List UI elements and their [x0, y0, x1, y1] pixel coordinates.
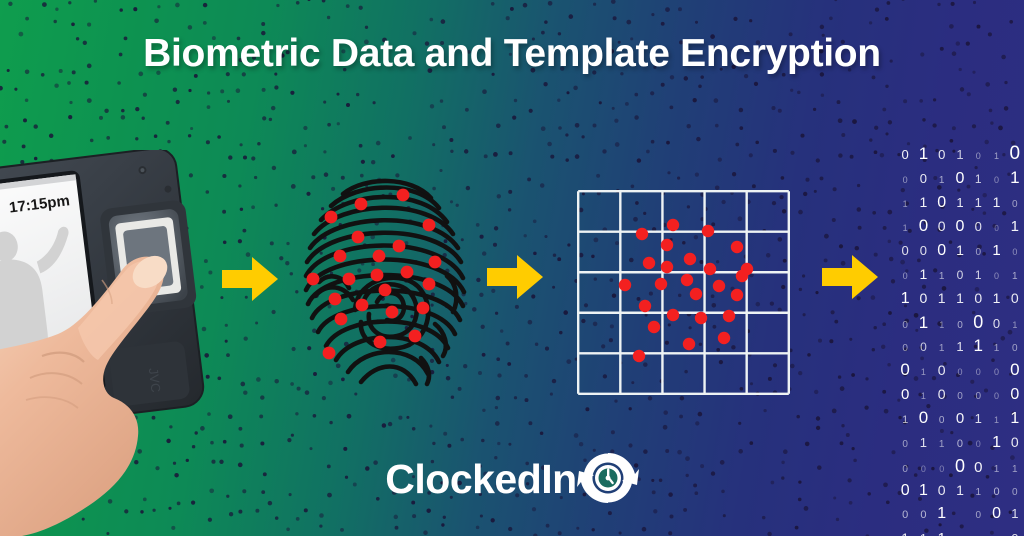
binary-row: 01000000	[896, 382, 1024, 406]
binary-digit: 0	[933, 382, 951, 406]
binary-digit: 0	[933, 143, 951, 167]
binary-digit: 0	[969, 310, 987, 334]
svg-text:JVC: JVC	[146, 367, 164, 393]
binary-digit: 1	[969, 167, 987, 191]
binary-digit: 0	[896, 264, 914, 288]
binary-digit: 0	[896, 239, 914, 263]
brand-logo[interactable]: ClockedIn	[0, 449, 1024, 509]
binary-digit: 1	[987, 144, 1005, 168]
binary-digit: 0	[896, 314, 914, 338]
binary-digit: 1	[914, 311, 932, 335]
binary-row: 0011110	[896, 334, 1024, 358]
binary-digit: 1	[933, 313, 951, 337]
binary-digit: 1	[987, 190, 1005, 214]
binary-digit: 1	[1006, 166, 1024, 190]
arrow-right-icon-1	[222, 255, 278, 303]
binary-digit: 0	[969, 144, 987, 168]
binary-digit: 0	[1006, 193, 1024, 217]
binary-digit: 1	[896, 216, 914, 240]
binary-digit: 0	[914, 239, 932, 263]
binary-digit: 0	[933, 239, 951, 263]
binary-digit: 0	[933, 409, 951, 433]
binary-digit: 0	[951, 263, 969, 287]
binary-digit: 1	[914, 142, 932, 166]
binary-digit: 1	[969, 191, 987, 215]
binary-digit: 0	[969, 360, 987, 384]
binary-digit: 0	[1006, 383, 1024, 407]
binary-row: 11110	[896, 526, 1024, 536]
binary-row: 1011010	[896, 286, 1024, 310]
binary-row: 0001010	[896, 238, 1024, 262]
binary-digit: 1	[914, 527, 932, 536]
binary-digit: 0	[914, 214, 932, 238]
binary-digit: 1	[951, 238, 969, 262]
binary-digit: 0	[951, 167, 969, 191]
binary-digit: 1	[951, 286, 969, 310]
template-grid	[577, 190, 790, 395]
binary-digit: 0	[969, 241, 987, 265]
binary-digit: 1	[951, 191, 969, 215]
arrow-right-icon-3	[822, 253, 878, 301]
binary-digit: 0	[1006, 286, 1024, 310]
binary-row: 01000000	[896, 358, 1024, 382]
binary-digit: 1	[1006, 313, 1024, 337]
binary-digit: 0	[914, 406, 932, 430]
binary-digit: 1	[914, 262, 932, 286]
binary-digit: 1	[987, 286, 1005, 310]
binary-digit: 0	[896, 383, 914, 407]
brand-name: ClockedIn	[385, 459, 576, 500]
binary-digit: 1	[933, 286, 951, 310]
binary-digit: 1	[933, 527, 951, 536]
binary-row: 1000001	[896, 214, 1024, 238]
binary-row: 1000111	[896, 406, 1024, 430]
binary-digit: 1	[914, 384, 932, 408]
binary-digit: 0	[969, 215, 987, 239]
grid-lines	[578, 191, 789, 394]
fingerprint-minutiae	[303, 172, 471, 390]
binary-digit: 1	[896, 192, 914, 216]
binary-digit: 1	[914, 190, 932, 214]
binary-digit: 0	[969, 385, 987, 409]
binary-digit: 0	[951, 407, 969, 431]
binary-digit: 1	[969, 407, 987, 431]
binary-digit: 0	[896, 358, 914, 382]
binary-digit: 0	[1006, 527, 1024, 536]
grid-feature-points	[619, 219, 753, 362]
binary-row: 0010101	[896, 166, 1024, 190]
binary-digit: 0	[914, 335, 932, 359]
binary-digit: 0	[951, 385, 969, 409]
binary-digit: 1	[896, 408, 914, 432]
binary-digit: 1	[969, 263, 987, 287]
binary-row: 0110101	[896, 262, 1024, 286]
binary-digit: 1	[987, 337, 1005, 361]
encrypted-binary-stream: 0101010001010111011101000001000101001101…	[896, 142, 1024, 460]
binary-row: 0110001	[896, 310, 1024, 334]
binary-digit: 0	[987, 312, 1005, 336]
binary-digit: 0	[933, 191, 951, 215]
binary-digit: 0	[896, 168, 914, 192]
binary-digit: 0	[987, 360, 1005, 384]
binary-digit: 0	[896, 337, 914, 361]
binary-digit: 0	[914, 167, 932, 191]
binary-digit: 1	[987, 239, 1005, 263]
binary-digit: 1	[896, 526, 914, 536]
binary-digit: 1	[951, 143, 969, 167]
binary-digit: 0	[914, 286, 932, 310]
binary-digit: 0	[987, 217, 1005, 241]
binary-row: 0101010	[896, 142, 1024, 166]
binary-digit: 1	[951, 335, 969, 359]
binary-digit: 0	[987, 384, 1005, 408]
binary-digit: 0	[987, 168, 1005, 192]
binary-digit: 1	[1006, 215, 1024, 239]
binary-digit: 0	[1006, 358, 1024, 382]
binary-digit: 1	[1006, 407, 1024, 431]
binary-digit: 1	[914, 360, 932, 384]
binary-digit: 0	[987, 264, 1005, 288]
binary-digit: 0	[1006, 142, 1024, 166]
binary-digit: 0	[1006, 337, 1024, 361]
binary-digit: 0	[896, 143, 914, 167]
binary-digit: 0	[933, 358, 951, 382]
binary-digit: 1	[969, 529, 987, 536]
sync-clock-icon	[577, 449, 639, 507]
binary-digit: 0	[1006, 240, 1024, 264]
page-title: Biometric Data and Template Encryption	[0, 32, 1024, 76]
binary-digit: 1	[969, 334, 987, 358]
binary-digit: 0	[951, 215, 969, 239]
binary-digit: 0	[933, 214, 951, 238]
binary-digit: 0	[969, 286, 987, 310]
binary-digit: 0	[951, 360, 969, 384]
binary-digit: 1	[896, 287, 914, 311]
binary-digit: 1	[933, 169, 951, 193]
arrow-right-icon-2	[487, 253, 543, 301]
binary-row: 1101110	[896, 190, 1024, 214]
infographic-canvas: elen nt 17:15pm	[0, 0, 1024, 536]
binary-digit: 1	[987, 408, 1005, 432]
